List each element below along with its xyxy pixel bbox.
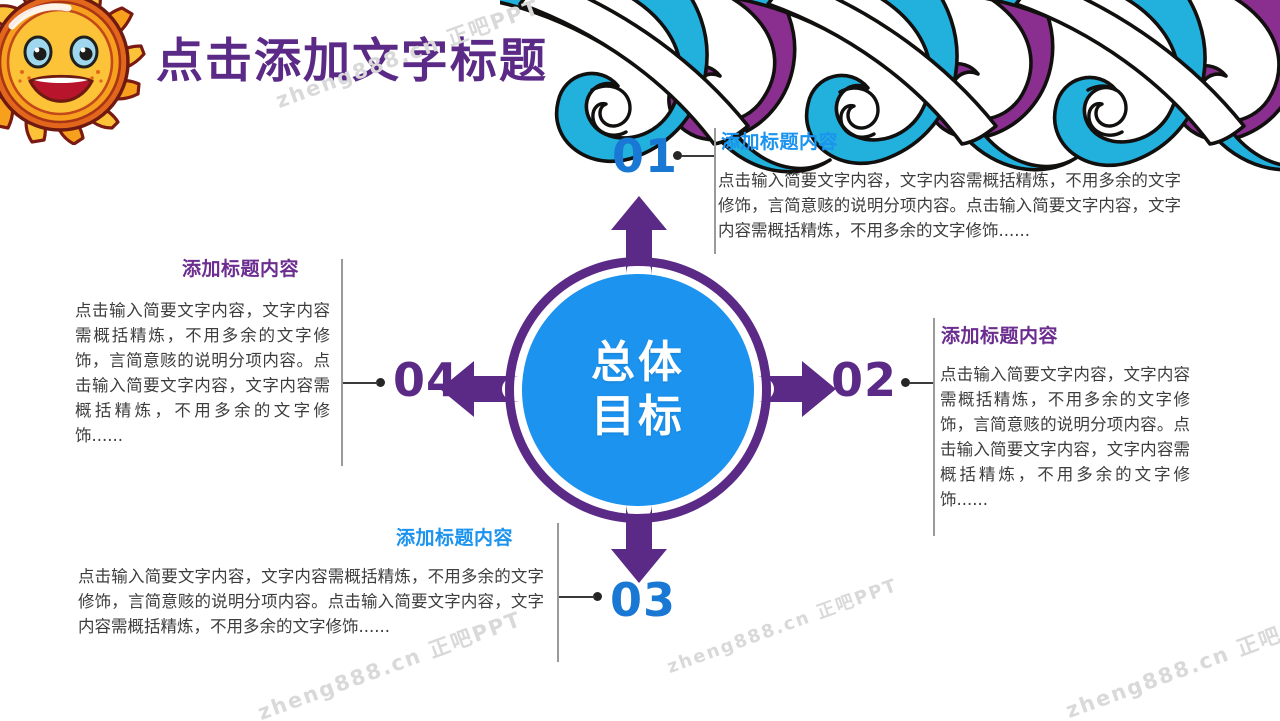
divider-01 (714, 128, 716, 254)
center-label-line2: 目标 (591, 390, 685, 444)
step-number-03: 03 (610, 577, 676, 623)
divider-04 (341, 259, 343, 466)
block-body-03: 点击输入简要文字内容，文字内容需概括精炼，不用多余的文字修饰，言简意赅的说明分项… (78, 564, 544, 639)
arrow-up-icon (600, 196, 678, 276)
block-body-01: 点击输入简要文字内容，文字内容需概括精炼，不用多余的文字修饰，言简意赅的说明分项… (718, 168, 1181, 243)
page-title: 点击添加文字标题 (156, 36, 548, 88)
block-heading-04: 添加标题内容 (182, 258, 299, 281)
block-heading-01: 添加标题内容 (721, 131, 838, 154)
block-heading-02: 添加标题内容 (941, 325, 1058, 348)
center-label-line1: 总体 (591, 336, 685, 390)
connector-line-01 (681, 155, 714, 157)
divider-02 (933, 318, 935, 536)
slide-canvas: 点击添加文字标题 总体 目标 (0, 0, 1280, 721)
step-number-04: 04 (393, 357, 459, 403)
connector-line-02 (909, 382, 933, 384)
step-number-01: 01 (612, 133, 678, 179)
step-number-02: 02 (831, 357, 897, 403)
block-body-04: 点击输入简要文字内容，文字内容需概括精炼，不用多余的文字修饰，言简意赅的说明分项… (75, 298, 330, 448)
arrow-right-icon (756, 350, 836, 428)
connector-line-03 (559, 596, 595, 598)
block-heading-03: 添加标题内容 (396, 527, 513, 550)
arrow-down-icon (600, 503, 678, 583)
watermark-right: zheng888.cn 正吧PPT (1061, 601, 1280, 721)
center-label: 总体 目标 (505, 257, 771, 523)
divider-03 (557, 523, 559, 662)
sun-icon (0, 0, 147, 145)
center-hub: 总体 目标 (505, 257, 771, 523)
connector-line-04 (343, 382, 378, 384)
watermark-middle: zheng888.cn 正吧PPT (663, 571, 901, 679)
block-body-02: 点击输入简要文字内容，文字内容需概括精炼，不用多余的文字修饰，言简意赅的说明分项… (940, 362, 1190, 512)
